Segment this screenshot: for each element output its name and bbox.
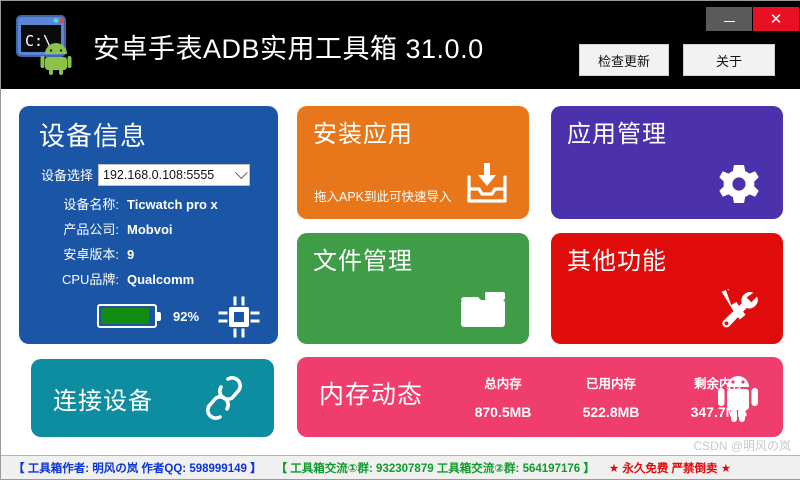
status-groups: 【 工具箱交流①群: 932307879 工具箱交流②群: 564197176 …	[274, 460, 597, 476]
tile-install-subtitle: 拖入APK到此可快速导入	[314, 186, 452, 205]
page-title: 安卓手表ADB实用工具箱 31.0.0	[93, 27, 484, 66]
tools-icon	[713, 286, 761, 332]
tile-connect-device[interactable]: 连接设备	[31, 359, 274, 437]
device-detail-value: Mobvoi	[127, 222, 173, 237]
device-select-row: 设备选择 192.168.0.108:5555	[41, 163, 261, 186]
device-detail-key: CPU品牌:	[41, 269, 127, 288]
device-detail-key: 设备名称:	[41, 194, 127, 213]
battery-percent-label: 92%	[173, 309, 199, 324]
device-select-value: 192.168.0.108:5555	[99, 168, 214, 182]
link-chain-icon	[202, 373, 246, 423]
gear-icon	[715, 161, 763, 209]
application-window: C:\_ 安卓手表ADB实用工具箱 31.0.0 ✕ 检查更新 关于 设备	[0, 0, 800, 480]
device-detail-value: Ticwatch pro x	[127, 197, 218, 212]
minimize-icon	[724, 21, 735, 22]
tile-app-manager[interactable]: 应用管理	[551, 106, 783, 219]
tile-install-app[interactable]: 安装应用 拖入APK到此可快速导入	[297, 106, 529, 219]
tile-app-manager-title: 应用管理	[567, 114, 667, 149]
minimize-button[interactable]	[706, 7, 752, 31]
download-inbox-icon	[463, 159, 511, 207]
check-update-button[interactable]: 检查更新	[579, 44, 669, 76]
status-notice: ★ 永久免费 严禁倒卖 ★	[607, 460, 733, 476]
device-detail-row: 产品公司: Mobvoi	[41, 219, 271, 244]
battery-icon	[97, 304, 157, 328]
chevron-down-icon	[235, 166, 248, 179]
device-detail-row: 设备名称: Ticwatch pro x	[41, 194, 271, 219]
device-detail-value: 9	[127, 247, 134, 262]
watermark: CSDN @明风の岚	[693, 437, 791, 454]
device-info-panel: 设备信息 设备选择 192.168.0.108:5555 设备名称: Ticwa…	[19, 106, 278, 344]
device-select-label: 设备选择	[41, 165, 93, 184]
memory-stat-value: 522.8MB	[583, 404, 640, 420]
device-select-dropdown[interactable]: 192.168.0.108:5555	[98, 164, 250, 186]
battery-fill	[101, 308, 149, 324]
tile-file-manager[interactable]: 文件管理	[297, 233, 529, 344]
cpu-chip-icon	[218, 296, 260, 338]
device-detail-value: Qualcomm	[127, 272, 194, 287]
android-robot-icon	[717, 369, 759, 423]
tile-memory-status[interactable]: 内存动态 总内存 870.5MB 已用内存 522.8MB 剩余内存 347.7…	[297, 357, 783, 437]
status-author: 【 工具箱作者: 明风の岚 作者QQ: 598999149 】	[11, 460, 264, 476]
close-button[interactable]: ✕	[753, 7, 799, 31]
title-bar: C:\_ 安卓手表ADB实用工具箱 31.0.0 ✕ 检查更新 关于	[1, 1, 800, 89]
close-icon: ✕	[770, 12, 783, 27]
status-bar: 【 工具箱作者: 明风の岚 作者QQ: 598999149 】 【 工具箱交流①…	[1, 455, 800, 479]
battery-status: 92%	[97, 304, 199, 328]
memory-stats: 总内存 870.5MB 已用内存 522.8MB 剩余内存 347.7MB	[467, 373, 755, 420]
device-detail-row: 安卓版本: 9	[41, 244, 271, 269]
device-detail-rows: 设备名称: Ticwatch pro x 产品公司: Mobvoi 安卓版本: …	[41, 194, 271, 294]
memory-stat-used: 已用内存 522.8MB	[575, 373, 647, 420]
about-button[interactable]: 关于	[683, 44, 775, 76]
terminal-android-icon: C:\_	[15, 13, 75, 75]
memory-stat-label: 已用内存	[586, 373, 636, 392]
device-detail-key: 产品公司:	[41, 219, 127, 238]
memory-stat-value: 870.5MB	[475, 404, 532, 420]
tile-install-title: 安装应用	[313, 114, 413, 149]
device-detail-row: CPU品牌: Qualcomm	[41, 269, 271, 294]
memory-stat-label: 总内存	[484, 373, 522, 392]
folder-icon	[459, 290, 507, 330]
tile-other-functions-title: 其他功能	[567, 241, 667, 276]
device-detail-key: 安卓版本:	[41, 244, 127, 263]
tile-memory-title: 内存动态	[319, 375, 423, 411]
tile-file-manager-title: 文件管理	[313, 241, 413, 276]
tile-other-functions[interactable]: 其他功能	[551, 233, 783, 344]
device-info-title: 设备信息	[39, 116, 147, 153]
tile-connect-device-title: 连接设备	[53, 381, 153, 416]
memory-stat-total: 总内存 870.5MB	[467, 373, 539, 420]
main-content: 设备信息 设备选择 192.168.0.108:5555 设备名称: Ticwa…	[1, 89, 800, 457]
